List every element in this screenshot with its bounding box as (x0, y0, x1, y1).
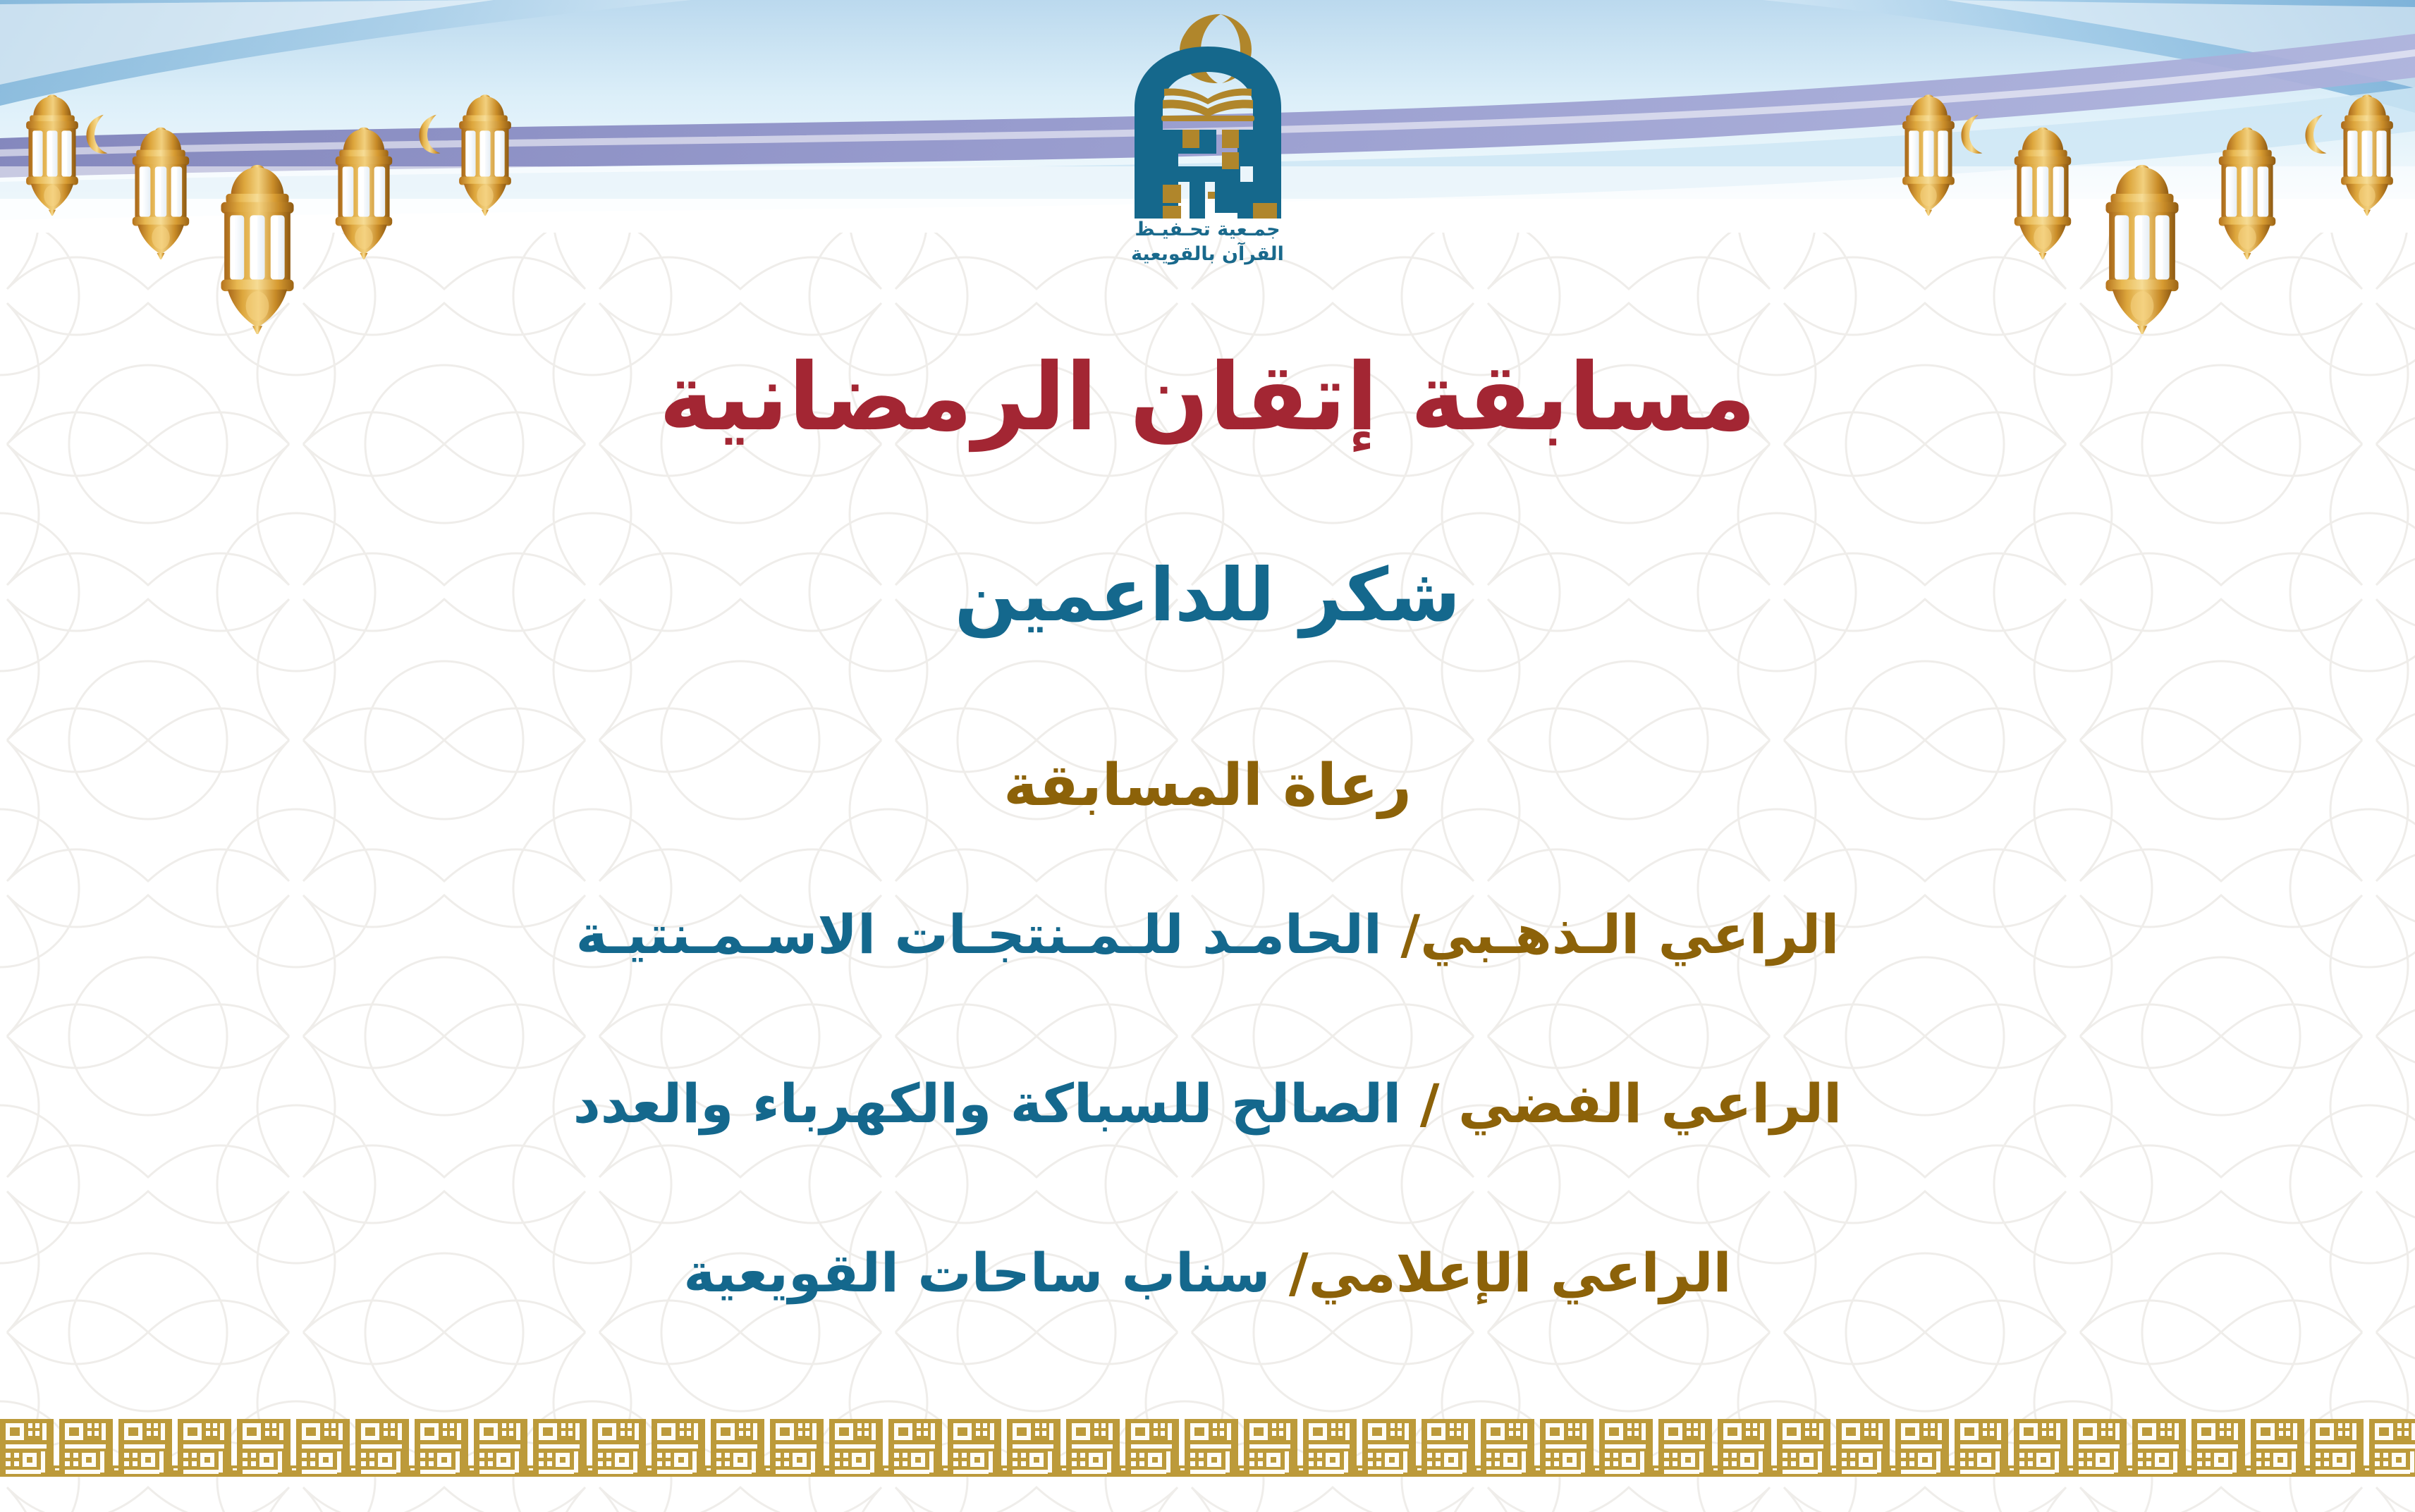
hanging-lantern-group-left (0, 0, 536, 409)
kufic-itqan-border-pattern (0, 1419, 2415, 1482)
sponsor-role-media: الراعي الإعلامي/ (1289, 1241, 1732, 1304)
sponsor-row-gold: الراعي الـذهـبي/ الحامـد للـمـنتجـات الا… (0, 906, 2415, 964)
open-book-icon (1161, 89, 1254, 121)
sponsor-name-media: سناب ساحات القويعية (683, 1241, 1270, 1304)
sponsor-role-silver: الراعي الفضي / (1420, 1072, 1842, 1135)
sponsor-row-silver: الراعي الفضي / الصالح للسباكة والكهرباء … (0, 1075, 2415, 1133)
sponsor-row-media: الراعي الإعلامي/ سناب ساحات القويعية (0, 1244, 2415, 1302)
quran-society-mihrab-logo (1102, 10, 1314, 221)
thank-you-subtitle: شكر للداعمين (0, 557, 2415, 634)
poster-canvas: جمـعية تحـفيـظ القرآن بالقويعية مسابقة إ… (0, 0, 2415, 1512)
sponsor-name-gold: الحامـد للـمـنتجـات الاسـمـنتيـة (576, 903, 1382, 966)
sponsor-role-gold: الراعي الـذهـبي/ (1400, 903, 1839, 966)
page-title: مسابقة إتقان الرمضانية (0, 349, 2415, 447)
organization-logo: جمـعية تحـفيـظ القرآن بالقويعية (1081, 10, 1335, 266)
logo-organization-name: جمـعية تحـفيـظ القرآن بالقويعية (1081, 217, 1335, 266)
hanging-lantern-group-right (1858, 0, 2415, 409)
sponsor-name-silver: الصالح للسباكة والكهرباء والعدد (573, 1072, 1401, 1135)
sponsors-heading: رعاة المسابقة (0, 756, 2415, 816)
